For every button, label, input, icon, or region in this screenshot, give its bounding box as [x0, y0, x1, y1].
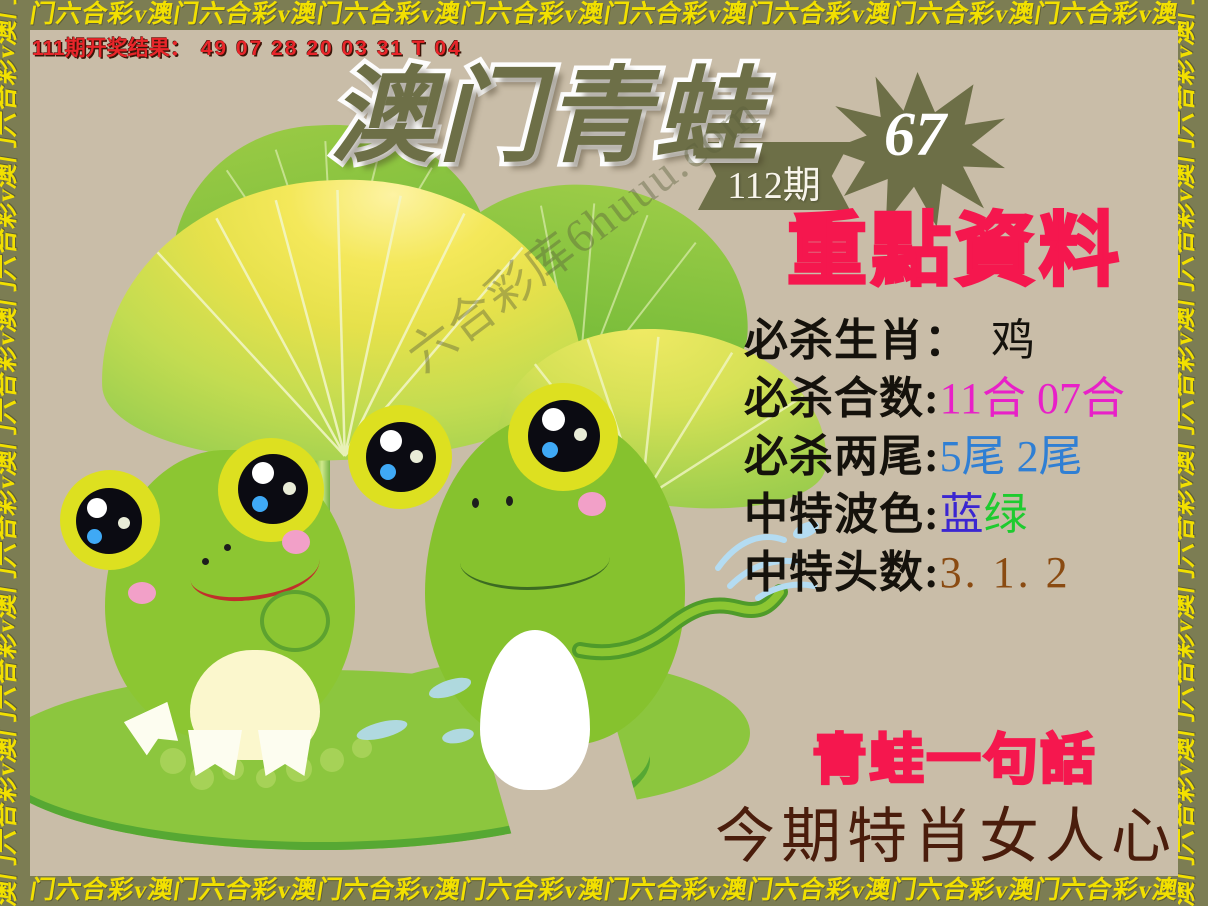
frog-left-eye-highlight3-left — [87, 529, 102, 544]
frog-left-eye-highlight-left — [87, 498, 107, 518]
border-text-right: 澳门六合彩v澳门六合彩v澳门六合彩v澳门六合彩v澳门六合彩v澳门六合彩v澳门六合… — [1178, 0, 1200, 906]
starburst-number: 67 — [855, 100, 975, 171]
frog-right-eye-ball-right — [528, 400, 600, 472]
draw-result-line: 111期开奖结果：49 07 28 20 03 31 T 04 — [32, 32, 462, 62]
frog-left-eye-highlight-right — [252, 462, 274, 484]
data-row-label: 必杀两尾: — [744, 432, 940, 481]
border-strip-left: 澳门六合彩v澳门六合彩v澳门六合彩v澳门六合彩v澳门六合彩v澳门六合彩v澳门六合… — [0, 0, 30, 906]
border-text-left: 澳门六合彩v澳门六合彩v澳门六合彩v澳门六合彩v澳门六合彩v澳门六合彩v澳门六合… — [0, 0, 22, 906]
frog-left-eye-ball-left — [76, 488, 142, 554]
frog-right-cheek — [578, 492, 606, 516]
draw-result-numbers: 49 07 28 20 03 31 T 04 — [201, 37, 462, 60]
frog-left-eye-ball-right — [238, 454, 308, 524]
data-row-bose: 中特波色:蓝绿 — [720, 486, 1178, 544]
data-row-label: 中特波色: — [744, 490, 940, 539]
frog-left-eye-highlight3-right — [252, 496, 268, 512]
data-row-shengxiao: 必杀生肖：鸡 — [720, 312, 1178, 370]
border-strip-right: 澳门六合彩v澳门六合彩v澳门六合彩v澳门六合彩v澳门六合彩v澳门六合彩v澳门六合… — [1178, 0, 1208, 906]
data-row-toushu: 中特头数:3. 1. 2 — [720, 544, 1178, 602]
data-row-label: 必杀合数: — [744, 374, 940, 423]
border-text-bottom: 澳门六合彩v澳门六合彩v澳门六合彩v澳门六合彩v澳门六合彩v澳门六合彩v澳门六合… — [0, 876, 1208, 906]
data-row-value-b: 绿 — [984, 490, 1028, 539]
frog-right-eye-highlight2-right — [574, 428, 587, 441]
poster-root: 澳门六合彩v澳门六合彩v澳门六合彩v澳门六合彩v澳门六合彩v澳门六合彩v澳门六合… — [0, 0, 1208, 906]
data-row-value: 11合 07合 — [940, 374, 1125, 423]
data-row-liangwei: 必杀两尾:5尾 2尾 — [720, 428, 1178, 486]
phrase-body: 今期特肖女人心 — [696, 802, 1178, 872]
draw-result-label: 111期开奖结果： — [32, 37, 191, 60]
frog-right-eye-highlight-right — [542, 408, 565, 431]
data-row-label: 中特头数: — [744, 548, 940, 597]
frog-right-nostril-a — [472, 498, 479, 508]
frog-left-eye-highlight2-left — [118, 517, 130, 529]
phrase-heading: 青蛙一句話 — [720, 730, 1178, 790]
border-strip-top: 澳门六合彩v澳门六合彩v澳门六合彩v澳门六合彩v澳门六合彩v澳门六合彩v澳门六合… — [0, 0, 1208, 30]
data-row-heshu: 必杀合数:11合 07合 — [720, 370, 1178, 428]
data-row-value: 鸡 — [969, 316, 1035, 365]
poster-canvas: 六合彩库6huuu.com 111期开奖结果：49 07 28 20 03 31… — [30, 30, 1178, 876]
frog-left-arm — [260, 590, 330, 652]
frog-right-eye-highlight2-left — [410, 450, 423, 463]
frog-right-eye-highlight-left — [380, 430, 402, 452]
water-splash-pad — [330, 670, 510, 790]
frog-left-cheek-left — [128, 582, 156, 604]
border-text-top: 澳门六合彩v澳门六合彩v澳门六合彩v澳门六合彩v澳门六合彩v澳门六合彩v澳门六合… — [0, 0, 1208, 30]
frog-right-eye-ball-left — [366, 422, 436, 492]
data-row-label: 必杀生肖： — [744, 316, 969, 365]
data-row-value: 3. 1. 2 — [940, 548, 1071, 597]
data-row-value: 5尾 2尾 — [940, 432, 1083, 481]
key-data-panel: 重點資料 必杀生肖：鸡 必杀合数:11合 07合 必杀两尾:5尾 2尾 中特波色… — [720, 210, 1178, 602]
frog-left-eye-highlight2-right — [283, 482, 296, 495]
frog-right-nostril-b — [506, 496, 513, 506]
issue-number: 112期 — [698, 154, 850, 209]
panel-heading: 重點資料 — [720, 210, 1178, 294]
frog-right-eye-highlight3-right — [542, 442, 558, 458]
border-strip-bottom: 澳门六合彩v澳门六合彩v澳门六合彩v澳门六合彩v澳门六合彩v澳门六合彩v澳门六合… — [0, 876, 1208, 906]
frog-right-eye-highlight3-left — [380, 464, 396, 480]
data-row-value-a: 蓝 — [940, 490, 984, 539]
